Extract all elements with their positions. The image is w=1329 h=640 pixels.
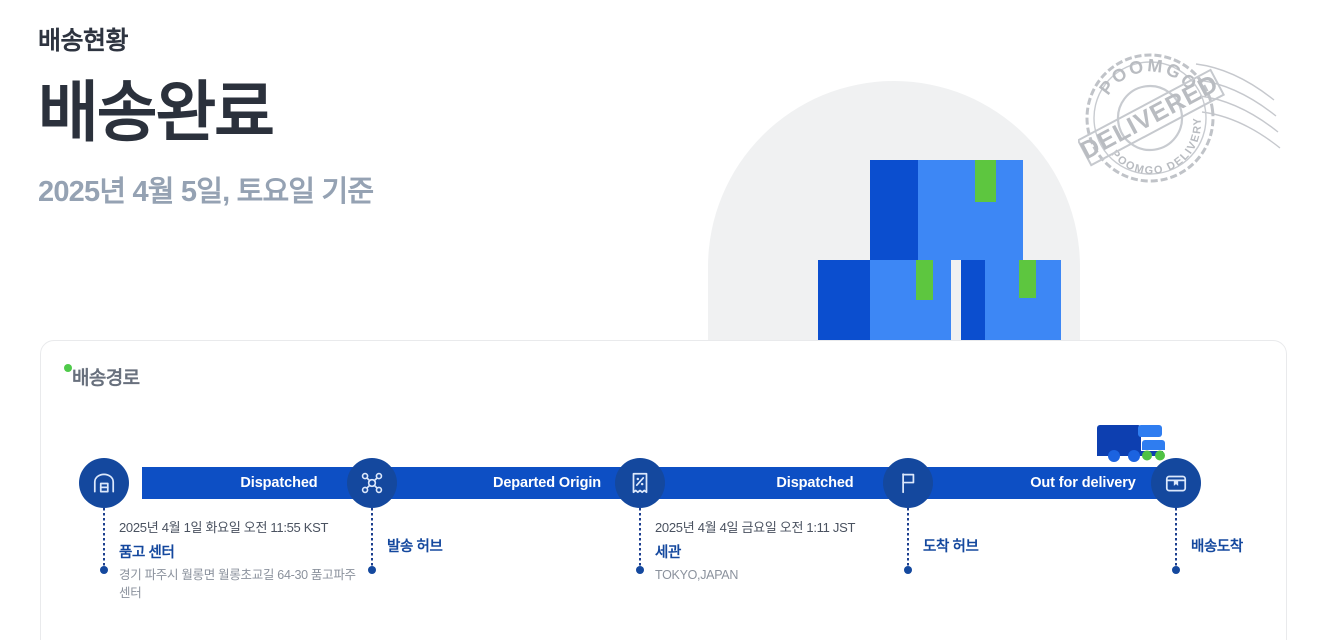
delivery-route-card: 배송경로 Dispatched Departed Origin Dispatch… <box>40 340 1287 640</box>
timeline-info-name-5: 배송도착 <box>1191 535 1243 556</box>
timeline-info-5: 배송도착 <box>1191 517 1243 556</box>
drop-dot <box>904 566 912 574</box>
timeline-node-origin-hub[interactable] <box>347 458 397 508</box>
drop-line <box>103 508 105 570</box>
hero-text-block: 배송현황 배송완료 2025년 4월 5일, 토요일 기준 <box>38 26 373 210</box>
timeline-info-address-1: 경기 파주시 월롱면 월롱초교길 64-30 품고파주센터 <box>119 566 357 602</box>
timeline-info-2: 발송 허브 <box>387 517 442 556</box>
timeline-drop-5 <box>1175 508 1177 570</box>
box-right-side <box>961 260 985 348</box>
timeline-info-3: 2025년 4월 4일 금요일 오전 1:11 JST 세관 TOKYO,JAP… <box>655 517 855 584</box>
drop-line <box>1175 508 1177 570</box>
timeline-info-address-3: TOKYO,JAPAN <box>655 566 855 584</box>
page-title: 배송완료 <box>38 74 373 152</box>
timeline-info-name-1: 품고 센터 <box>119 541 357 562</box>
timeline-info-4: 도착 허브 <box>923 517 978 556</box>
page-subtitle: 2025년 4월 5일, 토요일 기준 <box>38 168 373 210</box>
timeline-node-arrival-hub[interactable] <box>883 458 933 508</box>
timeline-drop-2 <box>371 508 373 570</box>
hero-section: 배송현황 배송완료 2025년 4월 5일, 토요일 기준 <box>0 0 1329 330</box>
page-eyebrow: 배송현황 <box>38 26 373 56</box>
box-top-side <box>870 160 918 260</box>
delivery-illustration: POOMGO POOMGO DELIVERY DELIVERED <box>708 28 1308 320</box>
delivery-timeline: Dispatched Departed Origin Dispatched Ou… <box>41 341 1288 640</box>
box-right-tape <box>1019 260 1036 298</box>
drop-dot <box>100 566 108 574</box>
timeline-info-name-2: 발송 허브 <box>387 535 442 556</box>
timeline-drop-1 <box>103 508 105 570</box>
drop-dot <box>368 566 376 574</box>
box-left-front <box>870 260 951 348</box>
drop-line <box>907 508 909 570</box>
timeline-info-1: 2025년 4월 1일 화요일 오전 11:55 KST 품고 센터 경기 파주… <box>119 517 357 602</box>
box-top-tape <box>975 160 996 202</box>
timeline-node-warehouse[interactable] <box>79 458 129 508</box>
timeline-drop-3 <box>639 508 641 570</box>
box-top-front <box>918 160 1023 260</box>
drop-line <box>639 508 641 570</box>
drop-line <box>371 508 373 570</box>
box-left-tape <box>916 260 933 300</box>
timeline-info-time-1: 2025년 4월 1일 화요일 오전 11:55 KST <box>119 517 357 536</box>
timeline-info-time-3: 2025년 4월 4일 금요일 오전 1:11 JST <box>655 517 855 536</box>
timeline-info-name-4: 도착 허브 <box>923 535 978 556</box>
delivered-stamp-icon: POOMGO POOMGO DELIVERY DELIVERED <box>1078 50 1308 190</box>
timeline-node-delivered[interactable] <box>1151 458 1201 508</box>
timeline-info-name-3: 세관 <box>655 541 855 562</box>
delivery-status-page: 배송현황 배송완료 2025년 4월 5일, 토요일 기준 <box>0 0 1329 640</box>
drop-dot <box>1172 566 1180 574</box>
timeline-node-customs[interactable] <box>615 458 665 508</box>
stacked-boxes-illustration <box>818 160 1078 340</box>
box-left-side <box>818 260 870 348</box>
timeline-drop-4 <box>907 508 909 570</box>
drop-dot <box>636 566 644 574</box>
